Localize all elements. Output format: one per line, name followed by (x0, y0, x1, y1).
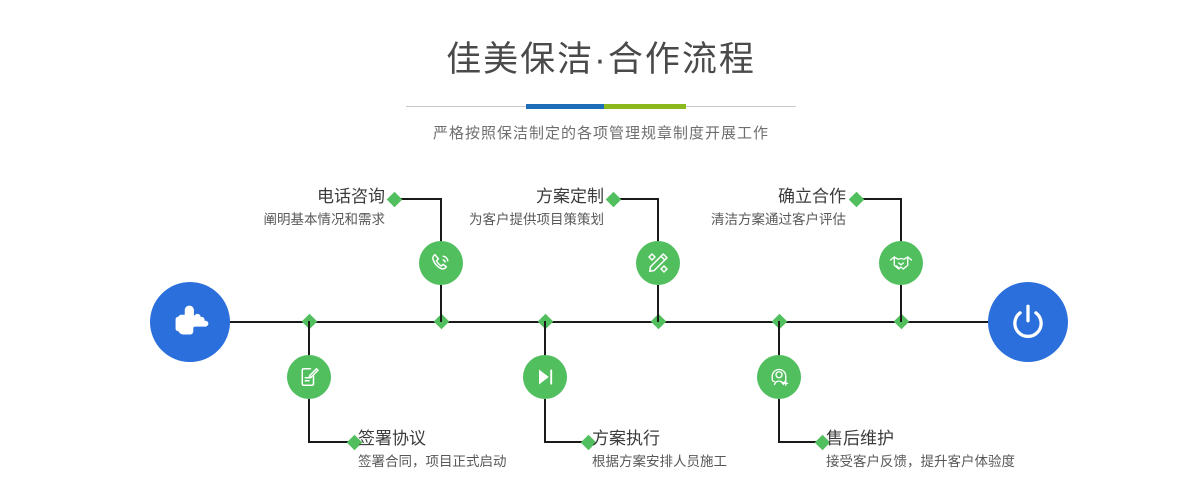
step-title-2: 签署协议 (358, 428, 618, 449)
step-icon-handshake[interactable] (879, 241, 923, 285)
step-desc-5: 清洁方案通过客户评估 (610, 210, 846, 230)
step-icon-pencil-ruler[interactable] (636, 241, 680, 285)
connector-step5-riser (900, 198, 902, 243)
step-title-1: 电话咨询 (149, 186, 385, 207)
step-label-3: 方案定制 为客户提供项目策策划 (370, 186, 604, 231)
step-desc-3: 为客户提供项目策策划 (370, 210, 604, 230)
play-execute-icon (533, 365, 557, 389)
handshake-icon (889, 251, 913, 275)
step-label-4: 方案执行 根据方案安排人员施工 (592, 428, 846, 473)
connector-step3-stem (657, 285, 659, 322)
step-desc-1: 阐明基本情况和需求 (149, 210, 385, 230)
step-icon-customer-support[interactable] (757, 355, 801, 399)
pencil-ruler-icon (646, 251, 670, 275)
connector-step2-riser (308, 399, 310, 443)
step-desc-6: 接受客户反馈，提升客户体验度 (826, 452, 1126, 472)
process-timeline: 电话咨询 阐明基本情况和需求 签署协议 签署合同，项目正式启动 (0, 0, 1202, 502)
step-desc-2: 签署合同，项目正式启动 (358, 452, 618, 472)
step-desc-4: 根据方案安排人员施工 (592, 452, 846, 472)
step-title-4: 方案执行 (592, 428, 846, 449)
step-title-3: 方案定制 (370, 186, 604, 207)
step-label-1: 电话咨询 阐明基本情况和需求 (149, 186, 385, 231)
step-icon-document-edit[interactable] (287, 355, 331, 399)
step-icon-play-execute[interactable] (523, 355, 567, 399)
connector-step6-stem (778, 321, 780, 357)
connector-step1-stem (440, 285, 442, 322)
timeline-start-node[interactable] (150, 282, 230, 362)
document-edit-icon (297, 365, 321, 389)
step-title-6: 售后维护 (826, 428, 1126, 449)
connector-step4-riser (544, 399, 546, 443)
connector-step6-riser (778, 399, 780, 443)
timeline-end-node[interactable] (988, 282, 1068, 362)
step-label-2: 签署协议 签署合同，项目正式启动 (358, 428, 618, 473)
step-icon-phone-call[interactable] (419, 241, 463, 285)
step-label-5: 确立合作 清洁方案通过客户评估 (610, 186, 846, 231)
connector-step2-stem (308, 321, 310, 357)
hand-pointing-icon (169, 301, 211, 343)
step-label-6: 售后维护 接受客户反馈，提升客户体验度 (826, 428, 1126, 473)
step-title-5: 确立合作 (610, 186, 846, 207)
power-icon (1007, 301, 1049, 343)
connector-step4-stem (544, 321, 546, 357)
customer-support-icon (767, 365, 791, 389)
phone-call-icon (429, 251, 453, 275)
connector-step5-dot (849, 192, 865, 208)
connector-step5-stem (900, 285, 902, 322)
flowchart-page: 佳美保洁·合作流程 严格按照保洁制定的各项管理规章制度开展工作 (0, 0, 1202, 502)
